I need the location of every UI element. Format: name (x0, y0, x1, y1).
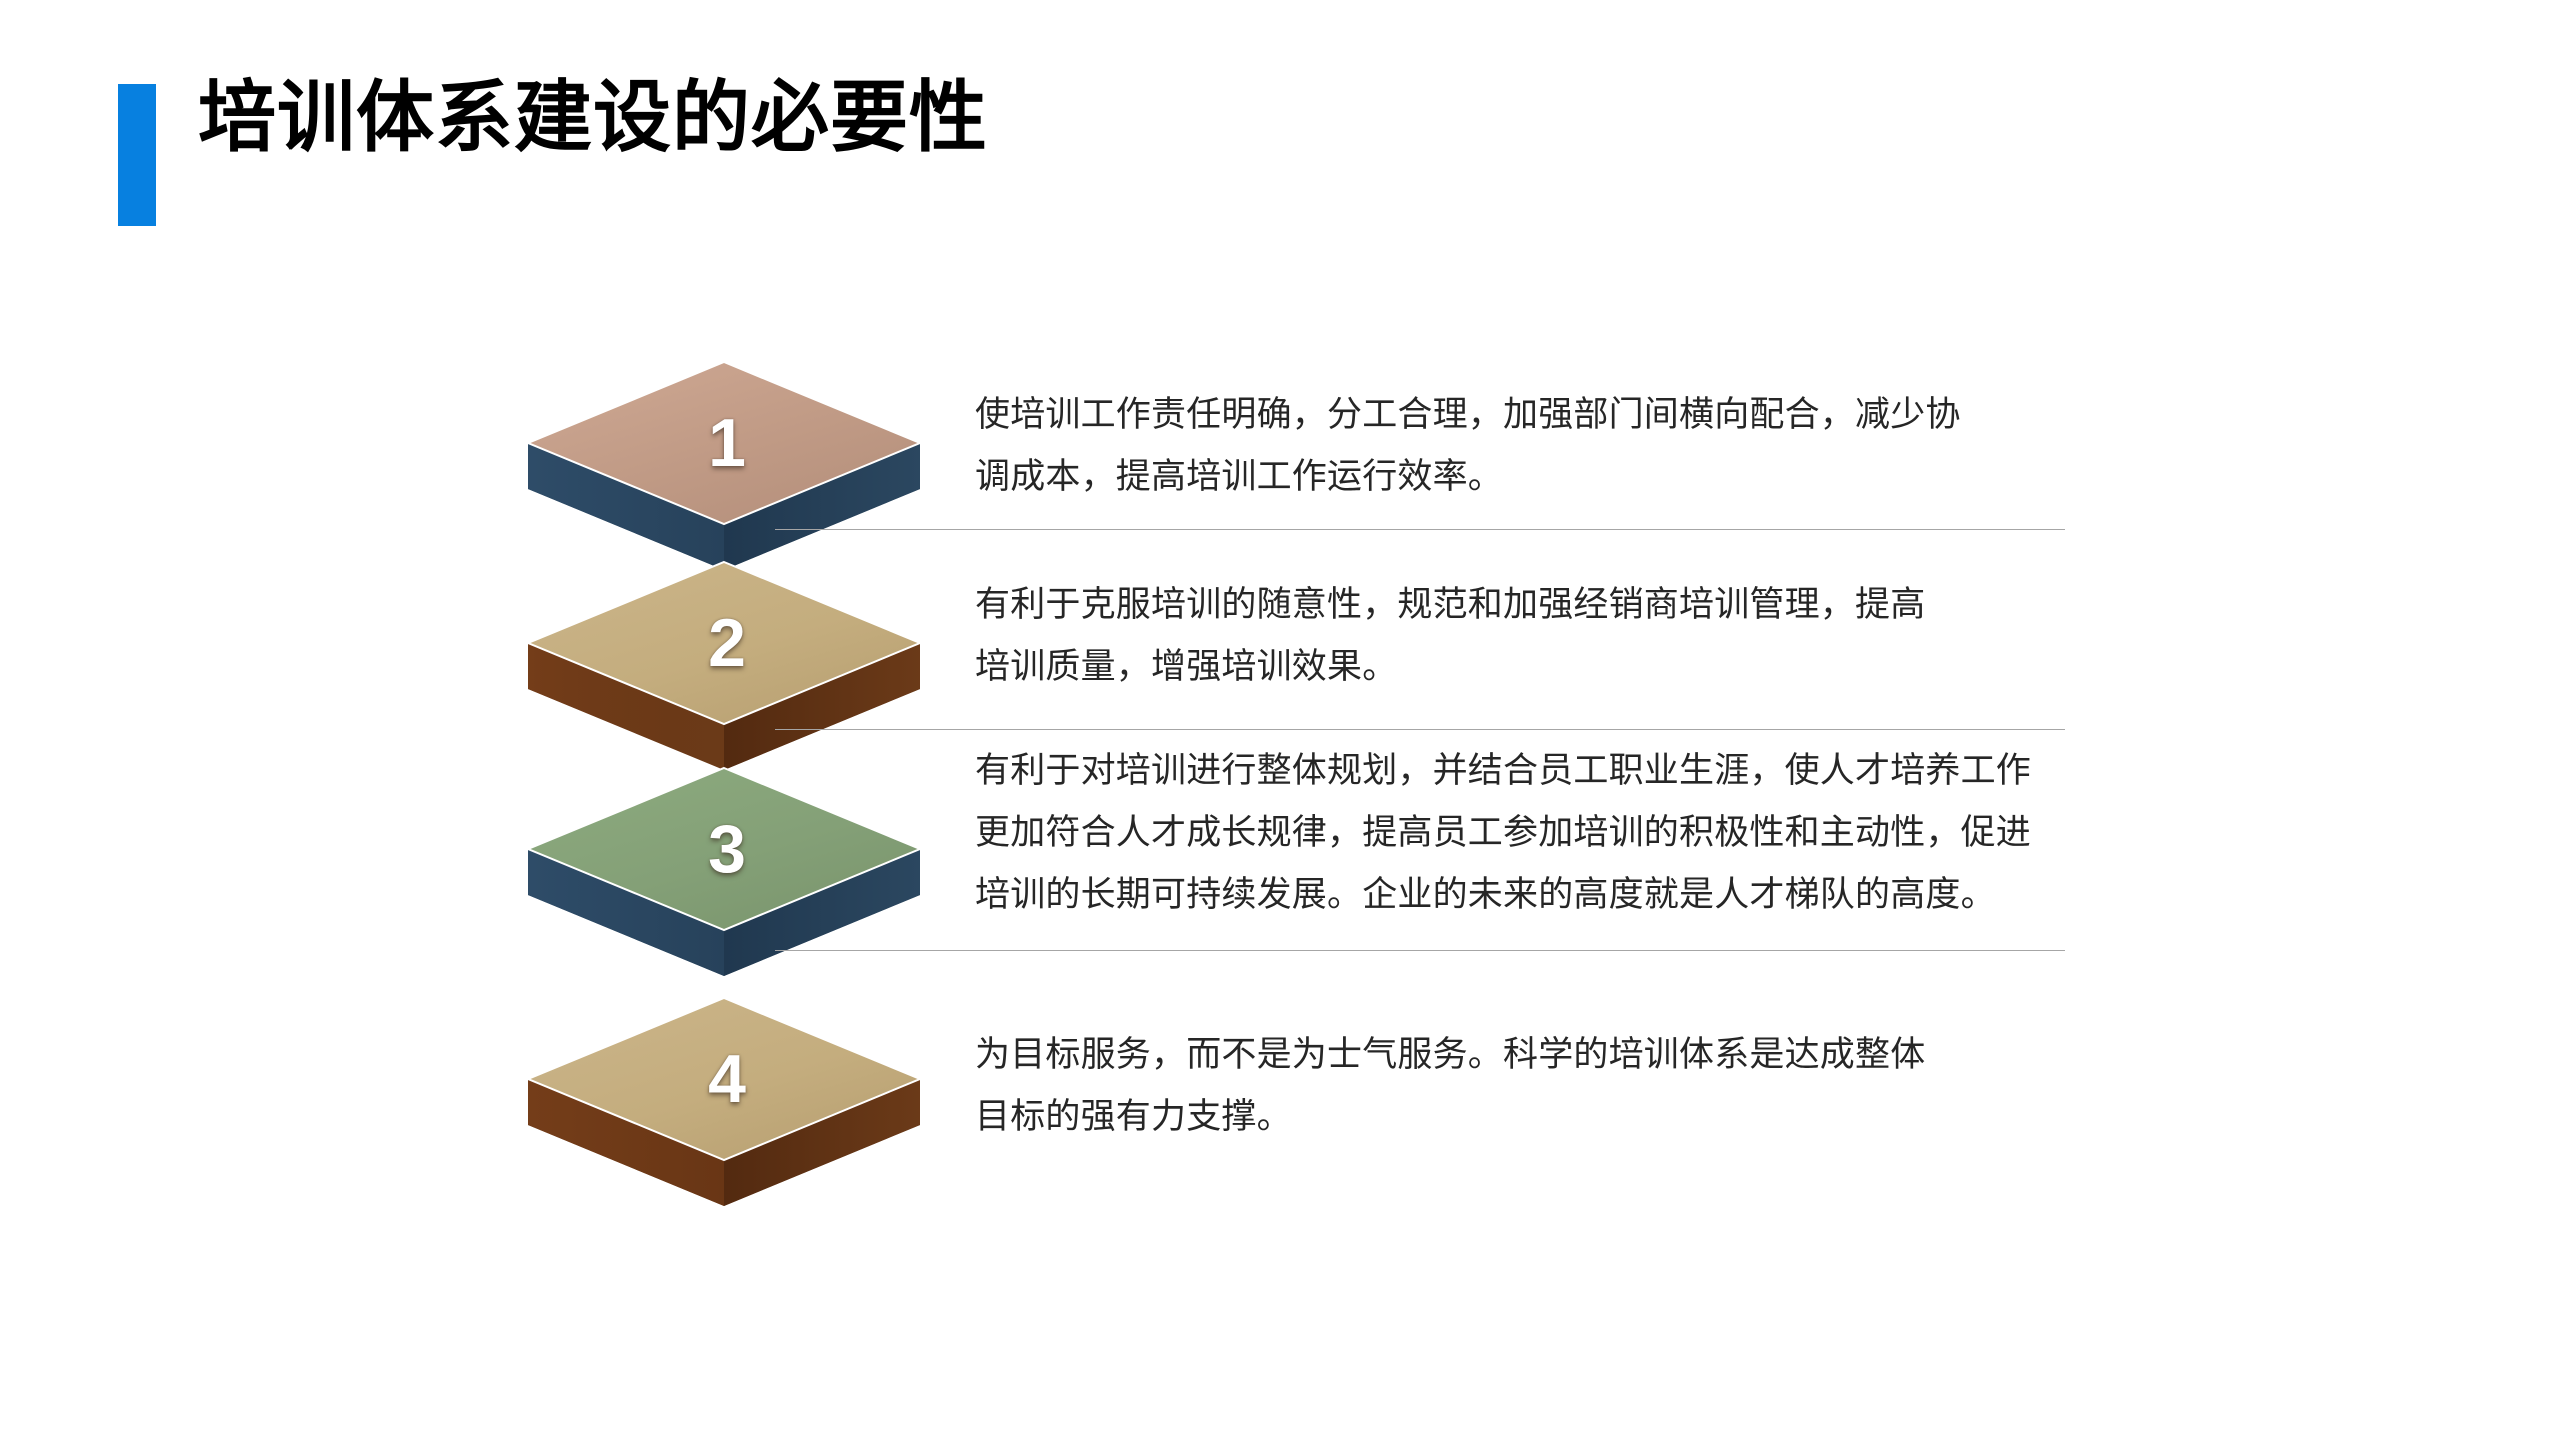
step-plate-1[interactable]: 1 (528, 362, 920, 570)
isometric-plate-icon (528, 768, 920, 976)
slide-canvas: 培训体系建设的必要性 (0, 0, 2560, 1440)
step-plate-3[interactable]: 3 (528, 768, 920, 976)
row-divider (775, 529, 2065, 530)
list-item[interactable]: 2 有利于克服培训的随意性，规范和加强经销商培训管理，提高 培训质量，增强培训效… (0, 552, 2560, 742)
item-description-line: 更加符合人才成长规律，提高员工参加培训的积极性和主动性，促进 (975, 802, 2175, 864)
item-description: 使培训工作责任明确，分工合理，加强部门间横向配合，减少协 调成本，提高培训工作运… (975, 384, 2155, 508)
step-plate-4[interactable]: 4 (528, 998, 920, 1206)
item-description-line: 有利于对培训进行整体规划，并结合员工职业生涯，使人才培养工作 (975, 740, 2175, 802)
list-item[interactable]: 3 有利于对培训进行整体规划，并结合员工职业生涯，使人才培养工作 更加符合人才成… (0, 740, 2560, 970)
isometric-plate-icon (528, 998, 920, 1206)
list-item[interactable]: 4 为目标服务，而不是为士气服务。科学的培训体系是达成整体 目标的强有力支撑。 (0, 982, 2560, 1212)
item-description-line: 调成本，提高培训工作运行效率。 (975, 446, 2155, 508)
item-description-line: 为目标服务，而不是为士气服务。科学的培训体系是达成整体 (975, 1024, 2155, 1086)
isometric-plate-icon (528, 362, 920, 570)
row-divider (775, 729, 2065, 730)
item-description: 为目标服务，而不是为士气服务。科学的培训体系是达成整体 目标的强有力支撑。 (975, 1024, 2155, 1148)
content-list: 1 使培训工作责任明确，分工合理，加强部门间横向配合，减少协 调成本，提高培训工… (0, 0, 2560, 1440)
item-description-line: 目标的强有力支撑。 (975, 1086, 2155, 1148)
row-divider (775, 950, 2065, 951)
item-description-line: 使培训工作责任明确，分工合理，加强部门间横向配合，减少协 (975, 384, 2155, 446)
step-plate-2[interactable]: 2 (528, 562, 920, 770)
list-item[interactable]: 1 使培训工作责任明确，分工合理，加强部门间横向配合，减少协 调成本，提高培训工… (0, 352, 2560, 542)
isometric-plate-icon (528, 562, 920, 770)
item-description-line: 培训质量，增强培训效果。 (975, 636, 2155, 698)
item-description-line: 有利于克服培训的随意性，规范和加强经销商培训管理，提高 (975, 574, 2155, 636)
item-description: 有利于对培训进行整体规划，并结合员工职业生涯，使人才培养工作 更加符合人才成长规… (975, 740, 2175, 926)
item-description-line: 培训的长期可持续发展。企业的未来的高度就是人才梯队的高度。 (975, 864, 2175, 926)
item-description: 有利于克服培训的随意性，规范和加强经销商培训管理，提高 培训质量，增强培训效果。 (975, 574, 2155, 698)
